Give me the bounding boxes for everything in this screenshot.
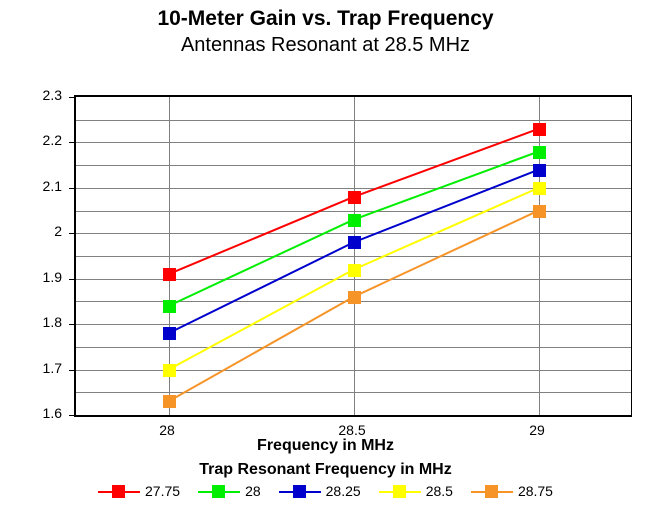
data-point-marker xyxy=(348,291,361,304)
y-tick-label: 1.9 xyxy=(43,270,62,284)
legend-label: 28 xyxy=(245,484,261,498)
x-axis-title: Frequency in MHz xyxy=(0,437,651,455)
plot-inner xyxy=(76,97,631,415)
y-tick-label: 2.3 xyxy=(43,88,62,102)
legend-item-28.5[interactable]: 28.5 xyxy=(379,484,453,498)
chart-title: 10-Meter Gain vs. Trap Frequency xyxy=(0,6,651,32)
data-point-marker xyxy=(348,264,361,277)
data-point-marker xyxy=(348,191,361,204)
y-tick-label: 2.2 xyxy=(43,133,62,147)
data-point-marker xyxy=(163,300,176,313)
series-lines xyxy=(76,97,631,415)
data-point-marker xyxy=(533,164,546,177)
series-line-28 xyxy=(169,152,539,306)
chart-figure: 10-Meter Gain vs. Trap Frequency Antenna… xyxy=(0,0,651,505)
legend-marker xyxy=(485,485,498,498)
chart-subtitle: Antennas Resonant at 28.5 MHz xyxy=(0,32,651,58)
legend-marker xyxy=(293,485,306,498)
data-point-marker xyxy=(163,364,176,377)
data-point-marker xyxy=(163,327,176,340)
y-tick-mark xyxy=(69,279,76,280)
y-tick-label: 2 xyxy=(54,224,62,238)
y-tick-mark xyxy=(69,188,76,189)
data-point-marker xyxy=(163,395,176,408)
y-tick-label: 1.7 xyxy=(43,361,62,375)
legend-label: 28.25 xyxy=(326,484,361,498)
legend: 27.752828.2528.528.75 xyxy=(0,484,651,498)
legend-label: 27.75 xyxy=(145,484,180,498)
legend-label: 28.5 xyxy=(426,484,453,498)
x-tick-label: 28 xyxy=(137,423,197,437)
legend-swatch-icon xyxy=(279,485,321,498)
legend-swatch-icon xyxy=(379,485,421,498)
y-tick-label: 1.6 xyxy=(43,406,62,420)
y-tick-mark xyxy=(69,97,76,98)
y-tick-mark xyxy=(69,233,76,234)
legend-label: 28.75 xyxy=(518,484,553,498)
x-tick-label: 28.5 xyxy=(322,423,382,437)
legend-marker xyxy=(112,485,125,498)
legend-swatch-icon xyxy=(98,485,140,498)
legend-item-27.75[interactable]: 27.75 xyxy=(98,484,180,498)
y-tick-label: 2.1 xyxy=(43,179,62,193)
x-tick-label: 29 xyxy=(507,423,567,437)
legend-marker xyxy=(212,485,225,498)
data-point-marker xyxy=(348,236,361,249)
legend-item-28.75[interactable]: 28.75 xyxy=(471,484,553,498)
data-point-marker xyxy=(348,214,361,227)
legend-item-28.25[interactable]: 28.25 xyxy=(279,484,361,498)
legend-item-28[interactable]: 28 xyxy=(198,484,261,498)
y-tick-mark xyxy=(69,370,76,371)
y-tick-label: 1.8 xyxy=(43,315,62,329)
data-point-marker xyxy=(533,182,546,195)
y-tick-mark xyxy=(69,142,76,143)
legend-swatch-icon xyxy=(198,485,240,498)
data-point-marker xyxy=(163,268,176,281)
data-point-marker xyxy=(533,146,546,159)
y-tick-mark xyxy=(69,324,76,325)
legend-swatch-icon xyxy=(471,485,513,498)
chart-title-block: 10-Meter Gain vs. Trap Frequency Antenna… xyxy=(0,6,651,58)
legend-title: Trap Resonant Frequency in MHz xyxy=(0,461,651,479)
data-point-marker xyxy=(533,123,546,136)
data-point-marker xyxy=(533,205,546,218)
y-tick-mark xyxy=(69,415,76,416)
plot-area xyxy=(74,95,632,417)
legend-marker xyxy=(393,485,406,498)
